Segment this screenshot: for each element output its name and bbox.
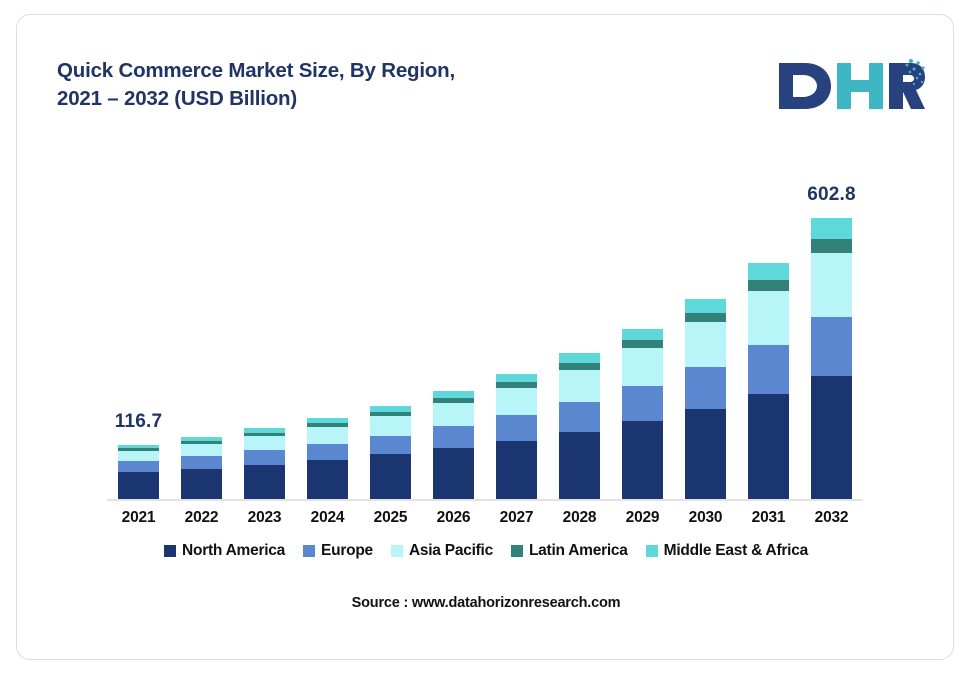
- source-note: Source : www.datahorizonresearch.com: [17, 595, 954, 611]
- bar-segment[interactable]: [622, 340, 663, 348]
- bar-segment[interactable]: [685, 299, 726, 313]
- legend-swatch-icon: [511, 545, 523, 557]
- bar-stack[interactable]: [433, 391, 474, 499]
- bar-segment[interactable]: [181, 456, 222, 468]
- bar-column[interactable]: [359, 135, 422, 499]
- bar-stack[interactable]: [118, 445, 159, 499]
- bar-segment[interactable]: [118, 472, 159, 499]
- bar-stack[interactable]: [244, 428, 285, 499]
- x-axis-tick-label: 2031: [737, 509, 800, 527]
- bar-stack[interactable]: [181, 437, 222, 499]
- x-axis-tick-label: 2025: [359, 509, 422, 527]
- legend-item[interactable]: Middle East & Africa: [646, 542, 808, 560]
- bar-stack[interactable]: [496, 374, 537, 499]
- chart-legend: North AmericaEuropeAsia PacificLatin Ame…: [17, 542, 954, 560]
- x-axis-line: [107, 499, 863, 501]
- bar-column[interactable]: [548, 135, 611, 499]
- bar-segment[interactable]: [118, 451, 159, 461]
- bar-segment[interactable]: [496, 374, 537, 382]
- bar-segment[interactable]: [811, 239, 852, 252]
- bar-segment[interactable]: [685, 313, 726, 323]
- chart-plot-area: 116.7602.8 20212022202320242025202620272…: [17, 15, 954, 660]
- chart-card: Quick Commerce Market Size, By Region, 2…: [16, 14, 954, 660]
- bar-segment[interactable]: [811, 218, 852, 240]
- bar-column[interactable]: [422, 135, 485, 499]
- x-axis-tick-label: 2023: [233, 509, 296, 527]
- bar-segment[interactable]: [244, 450, 285, 464]
- bar-segment[interactable]: [496, 415, 537, 441]
- bar-stack[interactable]: [370, 406, 411, 499]
- bar-stack[interactable]: [307, 418, 348, 499]
- bar-segment[interactable]: [307, 444, 348, 460]
- bar-segment[interactable]: [811, 376, 852, 499]
- bar-segment[interactable]: [370, 436, 411, 455]
- bar-segment[interactable]: [118, 461, 159, 472]
- bar-stack[interactable]: [685, 299, 726, 499]
- bar-segment[interactable]: [685, 367, 726, 408]
- legend-swatch-icon: [391, 545, 403, 557]
- bar-column[interactable]: [674, 135, 737, 499]
- bar-segment[interactable]: [685, 322, 726, 367]
- legend-item[interactable]: North America: [164, 542, 285, 560]
- bar-segment[interactable]: [622, 329, 663, 340]
- bar-segment[interactable]: [748, 291, 789, 345]
- bar-segment[interactable]: [433, 403, 474, 426]
- bar-segment[interactable]: [370, 416, 411, 435]
- bar-segment[interactable]: [244, 436, 285, 450]
- bar-segment[interactable]: [433, 448, 474, 499]
- bar-segment[interactable]: [811, 317, 852, 376]
- bar-segment[interactable]: [811, 253, 852, 318]
- bar-value-label: 602.8: [807, 184, 856, 206]
- bar-segment[interactable]: [244, 465, 285, 499]
- bar-segment[interactable]: [559, 402, 600, 432]
- legend-swatch-icon: [303, 545, 315, 557]
- bar-stack[interactable]: [622, 329, 663, 499]
- bar-stack[interactable]: [748, 263, 789, 499]
- legend-swatch-icon: [646, 545, 658, 557]
- bar-segment[interactable]: [433, 426, 474, 448]
- bar-column[interactable]: [233, 135, 296, 499]
- x-axis-tick-label: 2030: [674, 509, 737, 527]
- bar-group: 116.7602.8: [107, 135, 863, 499]
- x-axis-tick-label: 2027: [485, 509, 548, 527]
- bar-value-label: 116.7: [115, 411, 163, 433]
- bar-column[interactable]: 602.8: [800, 135, 863, 499]
- bar-segment[interactable]: [307, 460, 348, 499]
- bar-segment[interactable]: [622, 348, 663, 386]
- bar-segment[interactable]: [433, 391, 474, 398]
- legend-item-label: Latin America: [529, 542, 628, 560]
- bar-segment[interactable]: [685, 409, 726, 499]
- bar-segment[interactable]: [559, 370, 600, 402]
- bar-segment[interactable]: [622, 386, 663, 421]
- legend-item-label: Asia Pacific: [409, 542, 493, 560]
- bar-segment[interactable]: [496, 388, 537, 415]
- legend-swatch-icon: [164, 545, 176, 557]
- bar-segment[interactable]: [307, 427, 348, 444]
- bar-segment[interactable]: [748, 263, 789, 280]
- bar-column[interactable]: [611, 135, 674, 499]
- legend-item[interactable]: Asia Pacific: [391, 542, 493, 560]
- bar-column[interactable]: [485, 135, 548, 499]
- bar-segment[interactable]: [559, 353, 600, 362]
- bar-segment[interactable]: [748, 394, 789, 499]
- legend-item-label: Europe: [321, 542, 373, 560]
- x-axis-tick-label: 2029: [611, 509, 674, 527]
- bar-segment[interactable]: [748, 345, 789, 394]
- bar-segment[interactable]: [559, 432, 600, 499]
- bar-column[interactable]: [737, 135, 800, 499]
- bar-segment[interactable]: [181, 469, 222, 499]
- bar-segment[interactable]: [181, 444, 222, 456]
- legend-item-label: North America: [182, 542, 285, 560]
- chart-page: Quick Commerce Market Size, By Region, 2…: [0, 0, 976, 674]
- bar-segment[interactable]: [370, 454, 411, 499]
- x-axis-labels: 2021202220232024202520262027202820292030…: [107, 509, 863, 527]
- bar-column[interactable]: 116.7: [107, 135, 170, 499]
- legend-item[interactable]: Europe: [303, 542, 373, 560]
- bar-segment[interactable]: [622, 421, 663, 499]
- x-axis-tick-label: 2028: [548, 509, 611, 527]
- bar-stack[interactable]: [811, 218, 852, 499]
- x-axis-tick-label: 2022: [170, 509, 233, 527]
- bar-segment[interactable]: [748, 280, 789, 291]
- bar-segment[interactable]: [559, 363, 600, 370]
- x-axis-tick-label: 2024: [296, 509, 359, 527]
- bar-stack[interactable]: [559, 353, 600, 499]
- bar-column[interactable]: [296, 135, 359, 499]
- bar-column[interactable]: [170, 135, 233, 499]
- x-axis-tick-label: 2026: [422, 509, 485, 527]
- x-axis-tick-label: 2021: [107, 509, 170, 527]
- legend-item[interactable]: Latin America: [511, 542, 628, 560]
- bar-segment[interactable]: [496, 441, 537, 499]
- x-axis-tick-label: 2032: [800, 509, 863, 527]
- legend-item-label: Middle East & Africa: [664, 542, 808, 560]
